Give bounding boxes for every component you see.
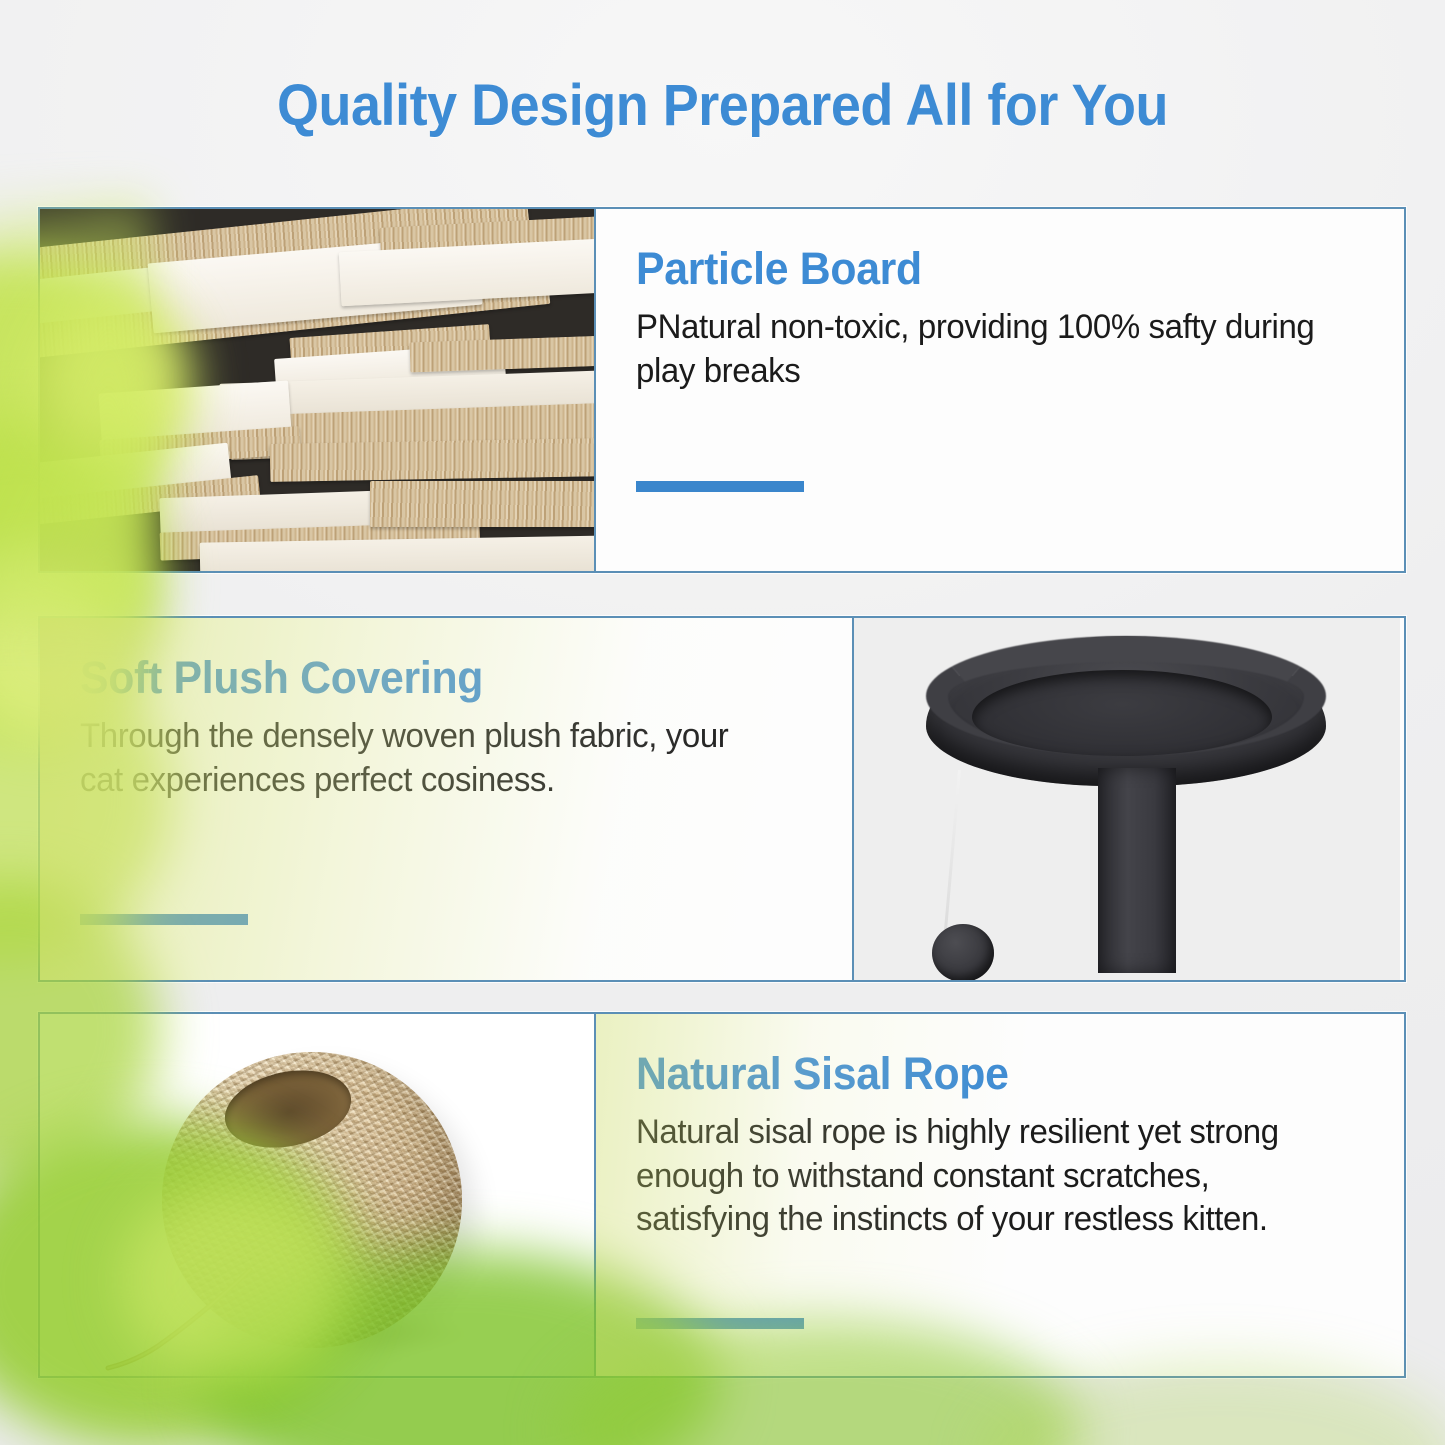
plush-perch-image	[854, 618, 1400, 980]
accent-bar	[636, 1318, 804, 1329]
card-heading: Particle Board	[636, 245, 1328, 292]
card-body: Through the densely woven plush fabric, …	[80, 715, 749, 802]
card-body: PNatural non-toxic, providing 100% safty…	[636, 306, 1342, 393]
plush-cat-perch-photo	[854, 618, 1400, 980]
card-heading: Soft Plush Covering	[80, 654, 775, 701]
sisal-rope-text-pane: Natural Sisal Rope Natural sisal rope is…	[596, 1014, 1404, 1376]
card-heading: Natural Sisal Rope	[636, 1050, 1328, 1097]
particle-board-text-pane: Particle Board PNatural non-toxic, provi…	[596, 209, 1404, 571]
page-title: Quality Design Prepared All for You	[51, 72, 1395, 139]
sisal-rope-image	[40, 1014, 596, 1376]
particle-board-image	[40, 209, 596, 571]
feature-card-soft-plush-covering: Soft Plush Covering Through the densely …	[38, 616, 1406, 982]
particle-board-stack-photo	[40, 209, 594, 571]
infographic-page: Quality Design Prepared All for You	[0, 0, 1445, 1445]
rope-tail	[100, 1264, 260, 1374]
feature-card-natural-sisal-rope: Natural Sisal Rope Natural sisal rope is…	[38, 1012, 1406, 1378]
accent-bar	[80, 914, 248, 925]
feature-card-particle-board: Particle Board PNatural non-toxic, provi…	[38, 207, 1406, 573]
sisal-rope-ball-photo	[40, 1014, 594, 1376]
card-body: Natural sisal rope is highly resilient y…	[636, 1111, 1342, 1242]
soft-plush-text-pane: Soft Plush Covering Through the densely …	[40, 618, 854, 980]
accent-bar	[636, 481, 804, 492]
